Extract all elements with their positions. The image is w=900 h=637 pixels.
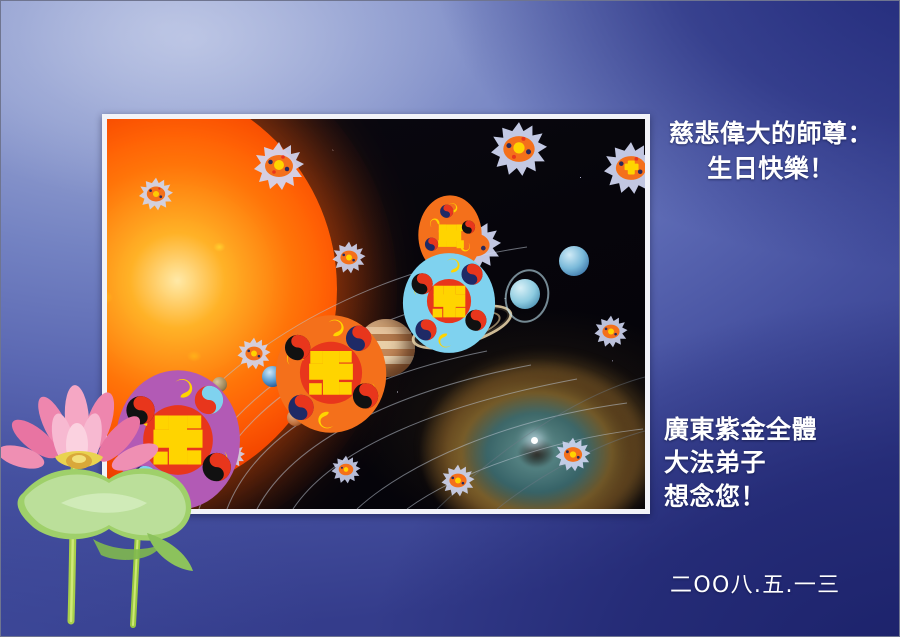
signature-line-2: 大法弟子 bbox=[664, 446, 817, 479]
falun-burst-icon bbox=[139, 177, 173, 211]
planet-neptune bbox=[559, 246, 589, 276]
falun-burst-icon bbox=[441, 464, 475, 497]
greeting-card: 慈悲偉大的師尊： 生日快樂！ 廣東紫金全體 大法弟子 想念您！ 二OO八.五.一… bbox=[0, 0, 900, 637]
signature-line-3: 想念您！ bbox=[664, 480, 817, 513]
lotus-flower bbox=[0, 353, 212, 637]
signature-text: 廣東紫金全體 大法弟子 想念您！ bbox=[664, 413, 817, 513]
lotus-petals bbox=[0, 384, 162, 476]
greeting-line-2: 生日快樂！ bbox=[649, 152, 893, 187]
falun-burst-icon bbox=[603, 141, 645, 195]
lotus-leaves bbox=[18, 468, 193, 571]
falun-burst-icon bbox=[332, 241, 366, 274]
greeting-text: 慈悲偉大的師尊： 生日快樂！ bbox=[649, 117, 893, 186]
falun-burst-icon bbox=[594, 315, 628, 348]
falun-burst-icon bbox=[253, 141, 305, 191]
falun-burst-icon bbox=[237, 337, 271, 370]
planet-uranus bbox=[510, 279, 540, 309]
signature-line-1: 廣東紫金全體 bbox=[664, 413, 817, 446]
falun-emblem-orange bbox=[273, 313, 389, 435]
falun-burst-icon bbox=[490, 121, 548, 177]
falun-burst-icon bbox=[331, 455, 361, 484]
greeting-line-1: 慈悲偉大的師尊： bbox=[649, 117, 893, 152]
falun-emblem-blue bbox=[401, 251, 497, 355]
falun-burst-icon bbox=[555, 437, 591, 472]
date-text: 二OO八.五.一三 bbox=[670, 567, 841, 599]
